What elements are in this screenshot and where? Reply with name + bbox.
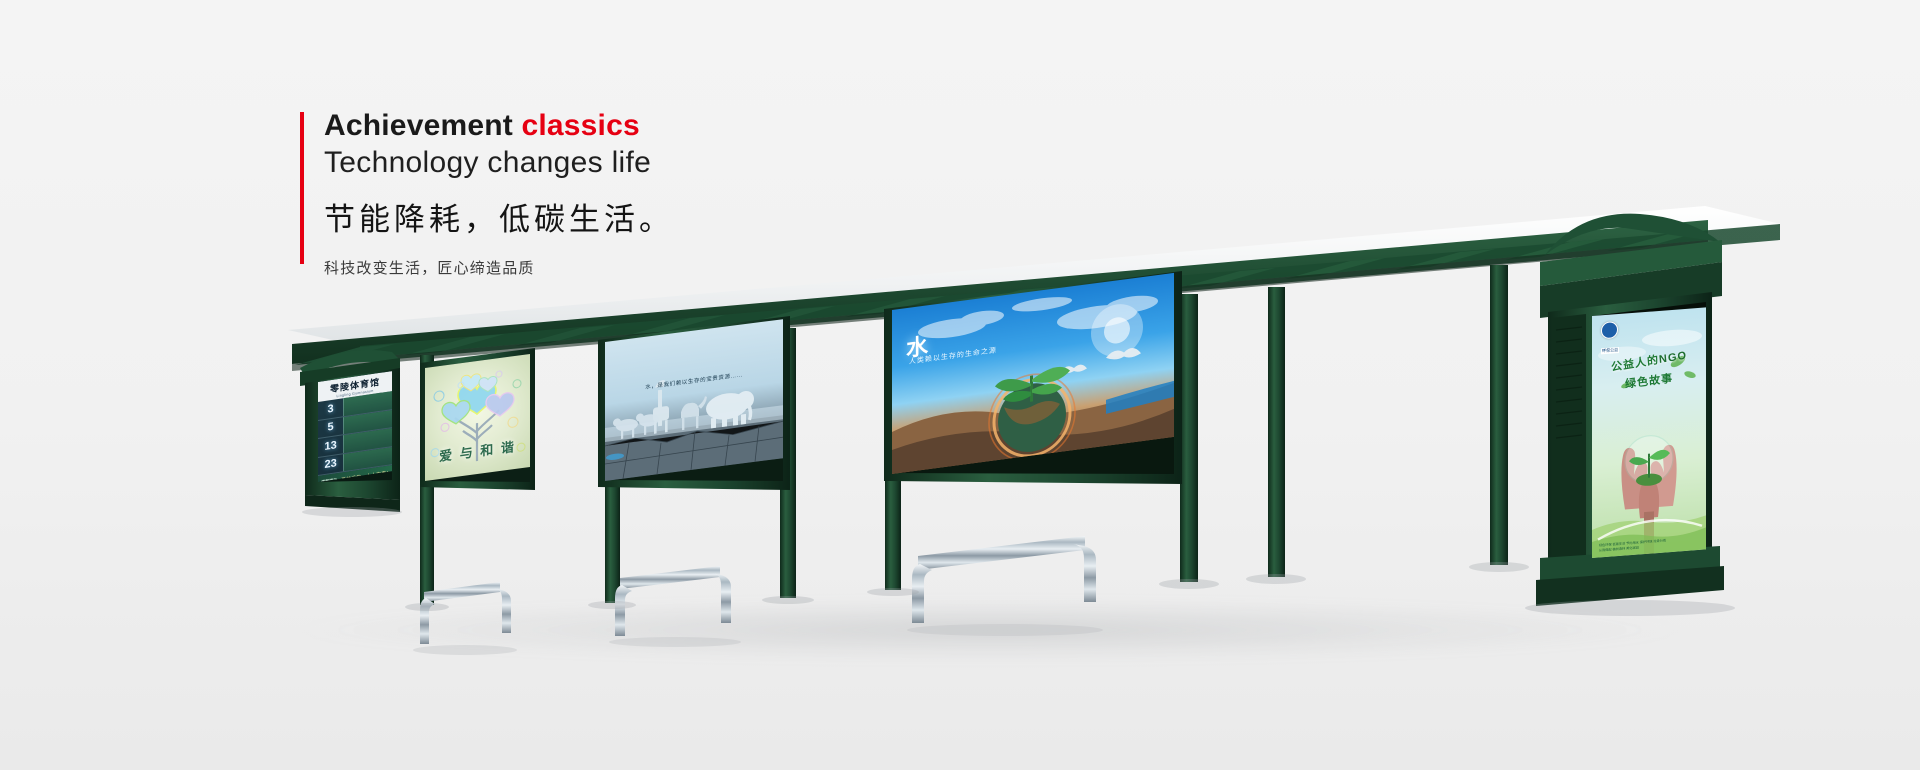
shelter-post-6	[1268, 287, 1285, 577]
banner-stage: Achievement classics Technology changes …	[0, 0, 1920, 770]
bus-schedule-board[interactable]: 零陵体育馆 Lingling Gymnasium 3 5 13 23 温馨提示 …	[318, 371, 392, 482]
shelter-post-5	[1180, 294, 1198, 582]
route-number: 5	[318, 420, 343, 436]
route-number: 23	[318, 457, 343, 473]
lightbox-water-animals[interactable]: 水，是我们赖以生存的宝贵资源……	[605, 319, 783, 481]
lightbox-love-harmony[interactable]: 爱 与 和 谐	[425, 354, 530, 481]
shelter-bench-3	[907, 536, 1103, 636]
route-number: 3	[318, 401, 343, 417]
shelter-post-7	[1490, 265, 1508, 565]
shelter-bench-1	[413, 582, 517, 655]
benches	[413, 536, 1103, 655]
route-number: 13	[318, 438, 343, 454]
totem-ngo-poster[interactable]: 环保公益	[1592, 307, 1706, 558]
drought-animals-graphic	[605, 319, 783, 481]
totem-graphic	[1592, 307, 1706, 558]
